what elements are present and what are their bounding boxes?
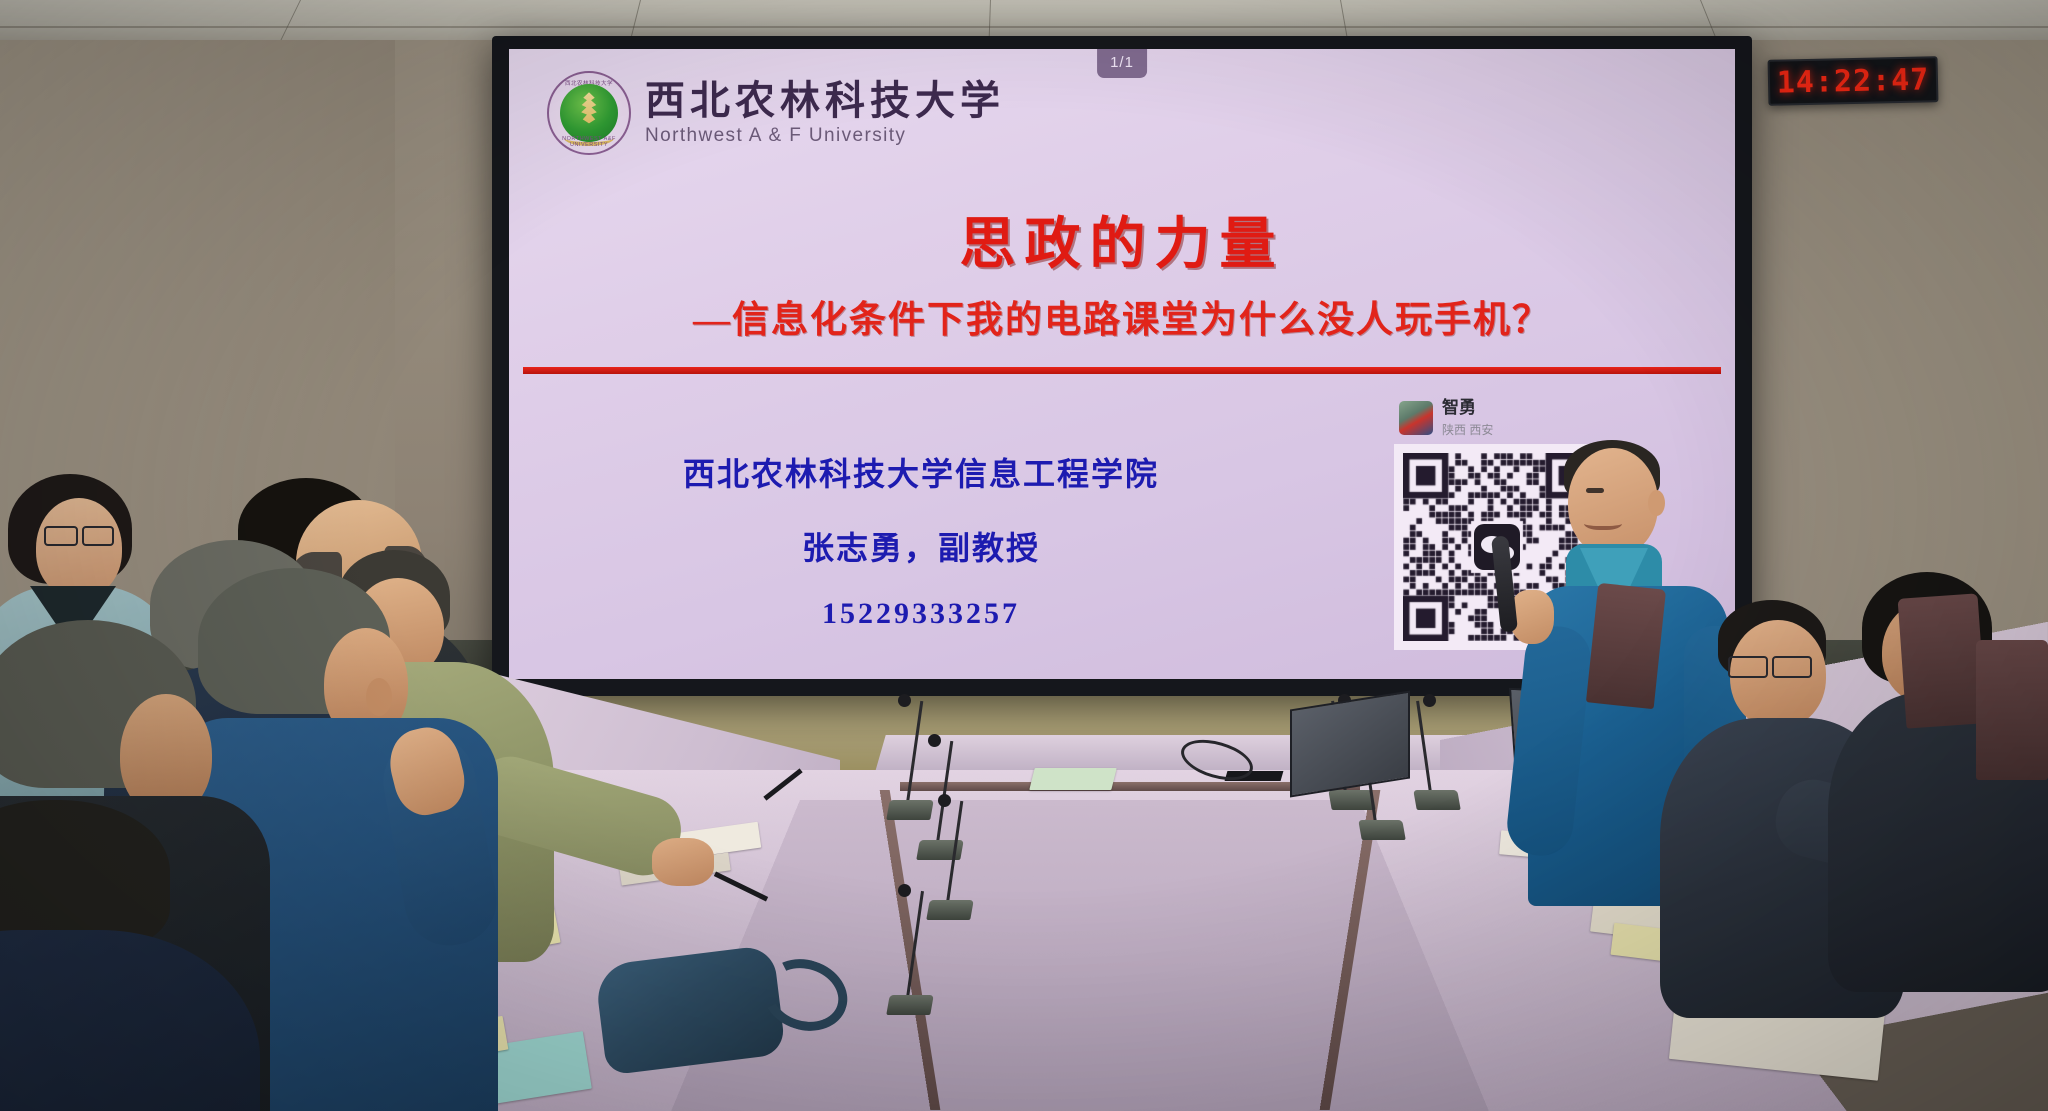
presenter-info-block: 西北农林科技大学信息工程学院 张志勇，副教授 15229333257 — [641, 449, 1201, 631]
presenter-smile — [1584, 514, 1622, 530]
slide-subtitle: —信息化条件下我的电路课堂为什么没人玩手机？ — [509, 289, 1735, 343]
digital-wall-clock: 14:22:47 — [1768, 56, 1939, 106]
chair-right-1 — [1586, 583, 1666, 709]
clock-time: 14:22:47 — [1776, 62, 1929, 100]
slide-title: 思政的力量 — [509, 199, 1735, 280]
title-divider-rule — [523, 367, 1721, 374]
presenter-affiliation: 西北农林科技大学信息工程学院 — [641, 449, 1201, 495]
university-logo-row: 西北农林科技大学 NORTHWEST A&F UNIVERSITY 西北农林科技… — [547, 71, 1005, 155]
wechat-nickname: 智勇 — [1442, 399, 1493, 418]
mic-head-icon — [898, 884, 911, 897]
mic-base — [886, 800, 934, 820]
presenter-eye — [1586, 488, 1604, 493]
mic-base — [1358, 820, 1406, 840]
paper-nameplate — [1029, 768, 1116, 790]
meeting-room-photo: 14:22:47 1/1 西北农林科技大学 NORTHWEST A&F UNIV… — [0, 0, 2048, 1111]
mic-base — [1328, 790, 1376, 810]
mic-head-icon — [938, 794, 951, 807]
presentation-slide[interactable]: 1/1 西北农林科技大学 NORTHWEST A&F UNIVERSITY 西北… — [509, 49, 1735, 679]
presenter-ear — [1648, 490, 1665, 516]
backpack-on-table — [594, 944, 786, 1075]
presenter-name: 张志勇，副教授 — [641, 523, 1201, 569]
slide-page-badge: 1/1 — [1097, 49, 1147, 78]
ear — [366, 678, 392, 716]
mic-head-icon — [1423, 694, 1436, 707]
glasses-icon — [44, 526, 78, 546]
chair-right-3 — [1976, 640, 2048, 780]
university-seal-icon: 西北农林科技大学 NORTHWEST A&F UNIVERSITY — [547, 71, 631, 155]
wechat-location: 陕西 西安 — [1442, 421, 1493, 438]
hand — [652, 838, 714, 886]
mic-base — [1413, 790, 1461, 810]
glasses-icon — [1728, 656, 1768, 678]
seal-bottom-text: NORTHWEST A&F UNIVERSITY — [549, 136, 629, 148]
presenter-phone: 15229333257 — [641, 597, 1201, 631]
wechat-profile-card: 智勇 陕西 西安 — [1399, 399, 1493, 438]
mic-base — [926, 900, 974, 920]
head — [36, 498, 122, 598]
wechat-avatar — [1399, 401, 1433, 435]
mic-base — [886, 995, 934, 1015]
university-name-en: Northwest A & F University — [645, 125, 1005, 147]
glasses-icon — [82, 526, 114, 546]
glasses-icon — [1772, 656, 1812, 678]
chair-right-2 — [1898, 593, 1987, 728]
presenter-head — [1568, 448, 1658, 556]
university-name-cn: 西北农林科技大学 — [645, 80, 1005, 122]
mic-head-icon — [898, 694, 911, 707]
mic-head-icon — [928, 734, 941, 747]
